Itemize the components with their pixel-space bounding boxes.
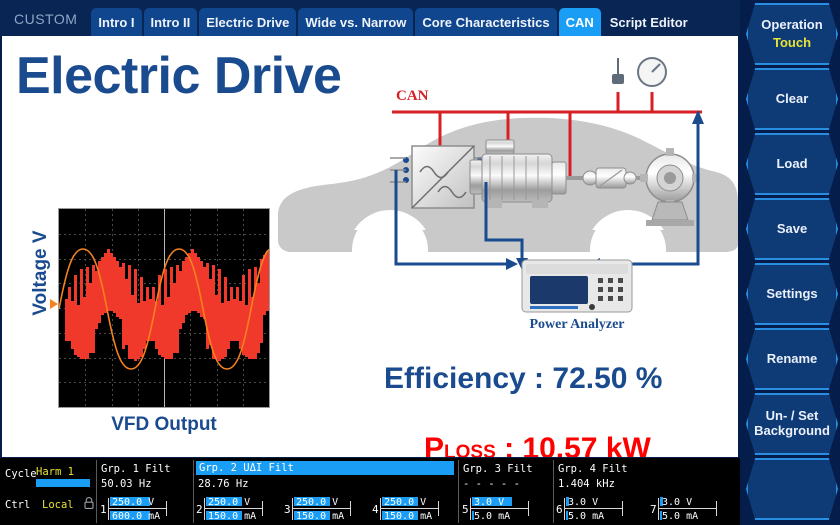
channel-number: 6 — [556, 503, 563, 516]
group-2-frequency: 28.76 Hz — [198, 478, 249, 490]
group-4-name: Grp. 4 — [558, 463, 596, 475]
softkey-hex-shape — [746, 458, 838, 520]
softkey-operation[interactable]: Operation Touch — [746, 3, 838, 65]
channel-number: 1 — [100, 503, 107, 516]
power-loss-readout: PLOSS : 10.57 kW — [424, 432, 651, 457]
channel-voltage: 250.0 V — [112, 497, 154, 508]
scope-caption: VFD Output — [58, 414, 270, 436]
group-4-suffix: Filt — [602, 463, 627, 475]
efficiency-value: 72.50 % — [552, 362, 662, 395]
channel-current: 5.0 mA — [568, 511, 604, 522]
efficiency-readout: Efficiency : 72.50 % — [384, 362, 662, 396]
channel-number: 3 — [284, 503, 291, 516]
cycle-bar — [36, 479, 90, 487]
channel-current: 150.0 mA — [296, 511, 344, 522]
custom-label: CUSTOM — [6, 11, 91, 36]
ploss-subscript: LOSS — [444, 442, 496, 457]
softkey-unset-background[interactable]: Un- / Set Background — [746, 393, 838, 455]
tab-intro-ii[interactable]: Intro II — [144, 8, 198, 36]
softkey-label: Un- / Set Background — [754, 409, 830, 439]
channel-voltage: 3.0 V — [662, 497, 692, 508]
tab-can[interactable]: CAN — [559, 8, 601, 36]
group-3-frequency: - - - - - — [463, 478, 520, 490]
can-label: CAN — [396, 88, 429, 104]
car-powertrain-diagram: CAN — [270, 44, 738, 344]
channel-voltage: 250.0 V — [296, 497, 338, 508]
instrument-screen: CUSTOM Intro I Intro II Electric Drive W… — [0, 0, 840, 525]
softkey-label: Settings — [766, 287, 817, 302]
sensor-icons — [612, 58, 666, 86]
scope-display[interactable] — [58, 208, 270, 408]
soft-key-sidebar: Operation Touch Clear Load Save Settings… — [740, 0, 840, 525]
group-2-name: Grp. 2 — [199, 462, 237, 474]
group-2-suffix: UΔI Filt — [243, 462, 294, 474]
scope-y-axis-label: Voltage V — [30, 218, 52, 328]
tab-script-editor[interactable]: Script Editor — [603, 8, 695, 36]
channel-2[interactable]: 2 250.0 V 150.0 mA — [196, 496, 266, 522]
softkey-empty[interactable] — [746, 458, 838, 520]
efficiency-label: Efficiency : — [384, 362, 552, 395]
group-3-suffix: Filt — [507, 463, 532, 475]
group-2-header: Grp. 2 UΔI Filt — [196, 461, 454, 475]
channel-7[interactable]: 7 3.0 V 5.0 mA — [650, 496, 720, 522]
channel-current: 5.0 mA — [662, 511, 698, 522]
softkey-label: Operation — [761, 18, 822, 33]
channel-number: 7 — [650, 503, 657, 516]
cycle-value: Harm 1 — [36, 466, 74, 478]
softkey-save[interactable]: Save — [746, 198, 838, 260]
group-4-frequency: 1.404 kHz — [558, 478, 615, 490]
channel-1[interactable]: 1 250.0 V 600.0 mA — [100, 496, 170, 522]
softkey-label: Rename — [767, 352, 818, 367]
softkey-value: Touch — [773, 36, 811, 51]
vfd-waveform — [59, 209, 270, 408]
power-analyzer-device — [522, 260, 632, 312]
softkey-load[interactable]: Load — [746, 133, 838, 195]
group-1-suffix: Filt — [145, 463, 170, 475]
tab-electric-drive[interactable]: Electric Drive — [199, 8, 296, 36]
ctrl-value: Local — [42, 499, 74, 511]
channel-number: 4 — [372, 503, 379, 516]
tab-core-characteristics[interactable]: Core Characteristics — [415, 8, 556, 36]
channel-current: 5.0 mA — [474, 511, 510, 522]
group-3-name: Grp. 3 — [463, 463, 501, 475]
channel-voltage: 3.0 V — [474, 497, 504, 508]
tab-intro-i[interactable]: Intro I — [91, 8, 141, 36]
channel-voltage: 3.0 V — [568, 497, 598, 508]
channel-current: 150.0 mA — [208, 511, 256, 522]
group-3-header: Grp. 3 Filt — [463, 463, 533, 475]
main-canvas: Electric Drive — [2, 36, 738, 457]
channel-number: 5 — [462, 503, 469, 516]
car-diagram-svg: CAN — [270, 44, 738, 344]
group-1-frequency: 50.03 Hz — [101, 478, 152, 490]
channel-4[interactable]: 4 250.0 V 150.0 mA — [372, 496, 442, 522]
status-bar: Cycle Harm 1 Ctrl Local Grp. 1 Filt 50.0… — [0, 458, 740, 525]
ploss-separator: : — [496, 432, 523, 457]
softkey-label: Save — [777, 222, 807, 237]
channel-5[interactable]: 5 3.0 V 5.0 mA — [462, 496, 532, 522]
channel-current: 150.0 mA — [384, 511, 432, 522]
tab-wide-vs-narrow[interactable]: Wide vs. Narrow — [298, 8, 413, 36]
group-4-header: Grp. 4 Filt — [558, 463, 628, 475]
lock-icon — [84, 497, 94, 509]
channel-number: 2 — [196, 503, 203, 516]
tab-bar: CUSTOM Intro I Intro II Electric Drive W… — [0, 0, 740, 36]
softkey-label: Clear — [776, 92, 809, 107]
ctrl-label: Ctrl — [5, 499, 30, 511]
softkey-label: Load — [776, 157, 807, 172]
channel-3[interactable]: 3 250.0 V 150.0 mA — [284, 496, 354, 522]
softkey-rename[interactable]: Rename — [746, 328, 838, 390]
ploss-symbol: P — [424, 432, 444, 457]
softkey-clear[interactable]: Clear — [746, 68, 838, 130]
channel-6[interactable]: 6 3.0 V 5.0 mA — [556, 496, 626, 522]
cycle-label: Cycle — [5, 468, 37, 480]
channel-voltage: 250.0 V — [208, 497, 250, 508]
group-1-header: Grp. 1 Filt — [101, 463, 171, 475]
channel-current: 600.0 mA — [112, 511, 160, 522]
power-analyzer-label: Power Analyzer — [530, 317, 625, 332]
channel-voltage: 250.0 V — [384, 497, 426, 508]
group-1-name: Grp. 1 — [101, 463, 139, 475]
ploss-value: 10.57 kW — [522, 432, 650, 457]
vfd-scope-panel: Voltage V — [20, 204, 270, 444]
softkey-settings[interactable]: Settings — [746, 263, 838, 325]
scope-trigger-marker — [50, 299, 58, 309]
